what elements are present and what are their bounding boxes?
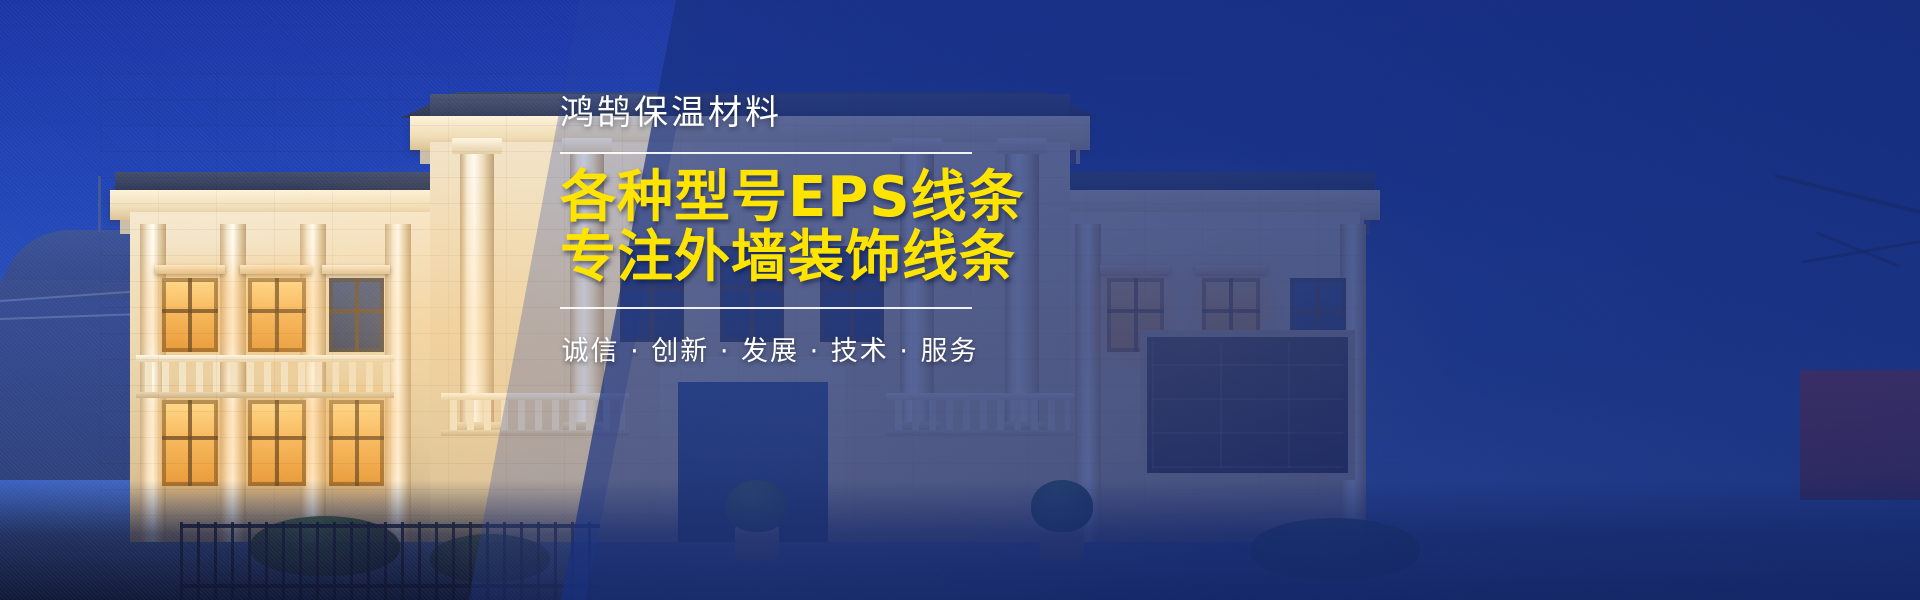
banner-text-block: 鸿鹄保温材料 各种型号EPS线条 专注外墙装饰线条 诚信 · 创新 · 发展 ·… (560, 96, 980, 368)
divider-top (560, 152, 972, 154)
divider-bottom (560, 307, 972, 309)
brand-name: 鸿鹄保温材料 (560, 96, 980, 130)
headline-line-2: 专注外墙装饰线条 (560, 228, 980, 288)
promo-banner: 鸿鹄保温材料 各种型号EPS线条 专注外墙装饰线条 诚信 · 创新 · 发展 ·… (0, 0, 1920, 600)
tagline: 诚信 · 创新 · 发展 · 技术 · 服务 (560, 329, 980, 368)
headline-line-1: 各种型号EPS线条 (560, 168, 980, 228)
